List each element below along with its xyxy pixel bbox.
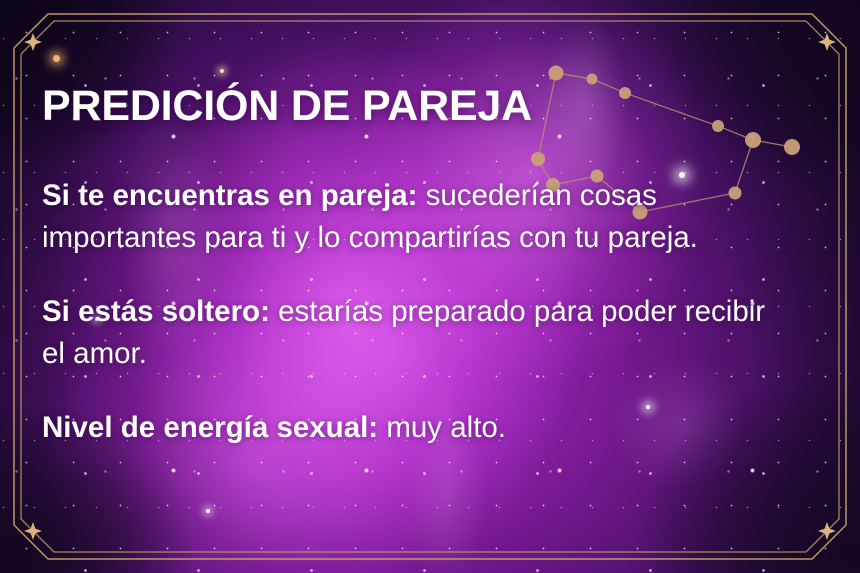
- prediction-poster: PREDICIÓN DE PAREJA Si te encuentras en …: [0, 0, 860, 573]
- paragraph-energy-lead: Nivel de energía sexual:: [42, 411, 378, 444]
- paragraph-energy: Nivel de energía sexual: muy alto.: [42, 407, 782, 449]
- paragraph-single: Si estás soltero: estarías preparado par…: [42, 291, 782, 375]
- paragraph-single-lead: Si estás soltero:: [42, 295, 270, 328]
- paragraph-energy-body: muy alto.: [378, 411, 506, 444]
- paragraph-couple: Si te encuentras en pareja: sucederían c…: [42, 175, 782, 259]
- poster-content: PREDICIÓN DE PAREJA Si te encuentras en …: [42, 84, 826, 449]
- page-title: PREDICIÓN DE PAREJA: [42, 84, 826, 129]
- paragraph-couple-lead: Si te encuentras en pareja:: [42, 179, 417, 212]
